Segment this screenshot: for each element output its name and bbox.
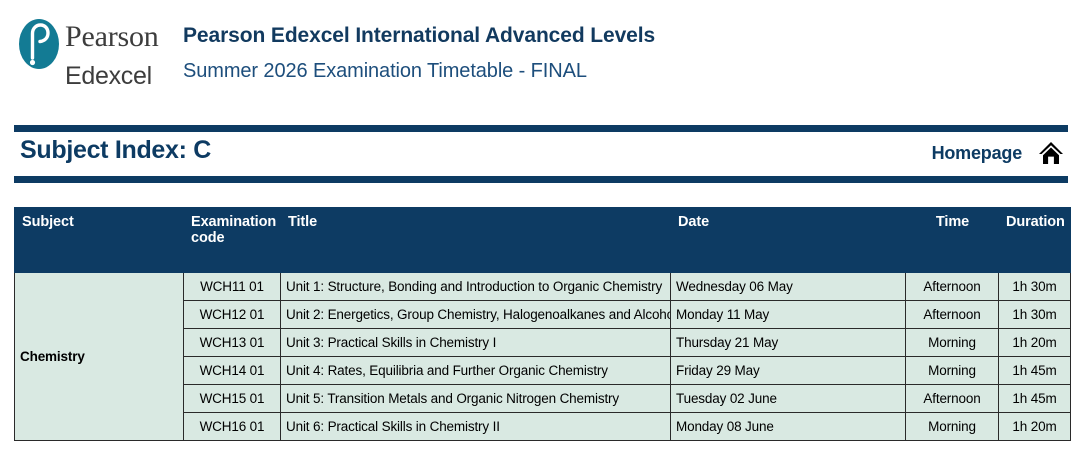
column-header-time: Time	[906, 208, 999, 273]
column-header-title: Title	[281, 208, 671, 273]
exam-title: Unit 3: Practical Skills in Chemistry I	[281, 329, 671, 357]
exam-duration: 1h 30m	[999, 301, 1071, 329]
exam-time: Afternoon	[906, 301, 999, 329]
exam-title: Unit 6: Practical Skills in Chemistry II	[281, 413, 671, 441]
subject-index-title: Subject Index: C	[20, 136, 211, 165]
column-header-duration: Duration	[999, 208, 1071, 273]
title-group: Pearson Edexcel International Advanced L…	[183, 22, 655, 85]
exam-code: WCH13 01	[184, 329, 281, 357]
exam-time: Afternoon	[906, 385, 999, 413]
exam-code: WCH14 01	[184, 357, 281, 385]
exam-title: Unit 2: Energetics, Group Chemistry, Hal…	[281, 301, 671, 329]
table-header-row: Subject Examination code Title Date Time…	[15, 208, 1071, 273]
exam-duration: 1h 30m	[999, 273, 1071, 301]
page-title: Pearson Edexcel International Advanced L…	[183, 22, 655, 50]
timetable-container: Subject Examination code Title Date Time…	[14, 207, 1070, 441]
document-header: Pearson Edexcel Pearson Edexcel Internat…	[0, 0, 1080, 125]
exam-duration: 1h 45m	[999, 357, 1071, 385]
exam-date: Monday 08 June	[671, 413, 906, 441]
homepage-link[interactable]: Homepage	[932, 141, 1064, 165]
exam-time: Morning	[906, 413, 999, 441]
exam-duration: 1h 20m	[999, 413, 1071, 441]
exam-code: WCH15 01	[184, 385, 281, 413]
exam-date: Friday 29 May	[671, 357, 906, 385]
exam-timetable: Subject Examination code Title Date Time…	[14, 207, 1071, 441]
table-row[interactable]: Chemistry WCH11 01 Unit 1: Structure, Bo…	[15, 273, 1071, 301]
subject-name: Chemistry	[15, 273, 184, 441]
exam-date: Monday 11 May	[671, 301, 906, 329]
exam-time: Morning	[906, 329, 999, 357]
logo-wordmark-edexcel: Edexcel	[65, 64, 152, 89]
exam-date: Thursday 21 May	[671, 329, 906, 357]
exam-code: WCH11 01	[184, 273, 281, 301]
exam-title: Unit 4: Rates, Equilibria and Further Or…	[281, 357, 671, 385]
exam-duration: 1h 45m	[999, 385, 1071, 413]
column-header-exam-code: Examination code	[184, 208, 281, 273]
exam-title: Unit 5: Transition Metals and Organic Ni…	[281, 385, 671, 413]
column-header-date: Date	[671, 208, 906, 273]
subject-index-bar: Subject Index: C Homepage	[14, 125, 1068, 183]
exam-date: Wednesday 06 May	[671, 273, 906, 301]
exam-code: WCH12 01	[184, 301, 281, 329]
exam-date: Tuesday 02 June	[671, 385, 906, 413]
pearson-edexcel-logo: Pearson Edexcel	[18, 16, 168, 106]
column-header-subject: Subject	[15, 208, 184, 273]
exam-duration: 1h 20m	[999, 329, 1071, 357]
home-icon[interactable]	[1038, 141, 1064, 165]
exam-title: Unit 1: Structure, Bonding and Introduct…	[281, 273, 671, 301]
homepage-label: Homepage	[932, 143, 1022, 164]
pearson-interrobang-icon	[18, 18, 60, 70]
exam-code: WCH16 01	[184, 413, 281, 441]
exam-time: Morning	[906, 357, 999, 385]
logo-wordmark-pearson: Pearson	[65, 22, 159, 52]
exam-time: Afternoon	[906, 273, 999, 301]
page-subtitle: Summer 2026 Examination Timetable - FINA…	[183, 58, 655, 85]
